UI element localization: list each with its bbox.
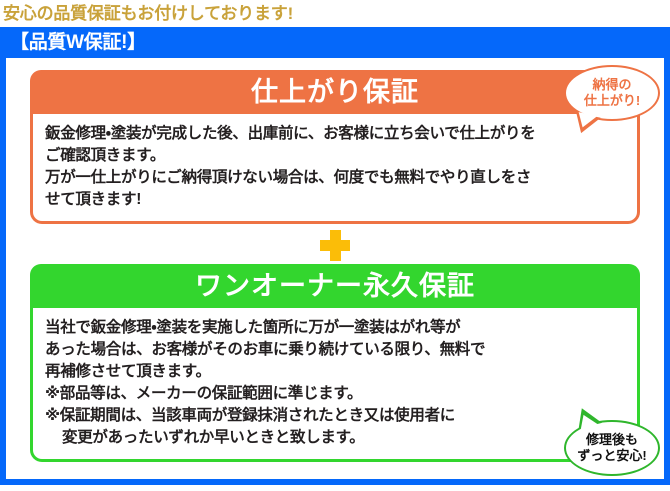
speech-bubble-finish-line-2: 仕上がり! — [584, 93, 640, 109]
guarantee-one-line-2: ご確認頂きます。 — [45, 145, 627, 167]
speech-bubble-lifetime-line-1: 修理後も — [586, 432, 638, 448]
guarantee-two-header: ワンオーナー永久保証 — [30, 264, 640, 308]
guarantee-two-note-1: ※部品等は、メーカーの保証範囲に準じます。 — [45, 383, 627, 405]
guarantee-two-line-2: あった場合は、お客様がそのお車に乗り続けている限り、無料で — [45, 339, 627, 361]
speech-bubble-finish: 納得の 仕上がり! — [564, 65, 660, 121]
speech-bubble-finish-line-1: 納得の — [592, 77, 631, 93]
guarantee-one-line-1: 鈑金修理・塗装が完成した後、出庫前に、お客様に立ち会いで仕上がりを — [45, 123, 627, 145]
guarantee-two-line-3: 再補修させて頂きます。 — [45, 361, 627, 383]
guarantee-two-body: 当社で鈑金修理・塗装を実施した箇所に万が一塗装はがれ等が あった場合は、お客様が… — [30, 308, 640, 462]
plus-divider — [16, 224, 654, 264]
guarantee-one-line-4: せて頂きます! — [45, 189, 627, 211]
guarantee-two-note-2: ※保証期間は、当該車両が登録抹消されたとき又は使用者に — [45, 405, 627, 427]
content-frame: 仕上がり保証 鈑金修理・塗装が完成した後、出庫前に、お客様に立ち会いで仕上がりを… — [0, 58, 670, 485]
content-inner: 仕上がり保証 鈑金修理・塗装が完成した後、出庫前に、お客様に立ち会いで仕上がりを… — [6, 58, 664, 479]
guarantee-card-lifetime: ワンオーナー永久保証 当社で鈑金修理・塗装を実施した箇所に万が一塗装はがれ等が … — [30, 264, 640, 462]
promo-banner: 安心の品質保証もお付けしております! 【品質W保証!】 仕上がり保証 鈑金修理・… — [0, 0, 670, 485]
title-bar: 【品質W保証!】 — [0, 27, 670, 58]
speech-bubble-lifetime: 修理後も ずっと安心! — [564, 420, 660, 476]
guarantee-one-line-3: 万が一仕上がりにご納得頂けない場合は、何度でも無料でやり直しをさ — [45, 167, 627, 189]
guarantee-two-note-2-cont: 変更があったいずれか早いときと致します。 — [45, 427, 627, 449]
page-headline: 安心の品質保証もお付けしております! — [0, 0, 670, 27]
guarantee-card-finish: 仕上がり保証 鈑金修理・塗装が完成した後、出庫前に、お客様に立ち会いで仕上がりを… — [30, 70, 640, 224]
plus-icon — [320, 230, 350, 260]
guarantee-one-body: 鈑金修理・塗装が完成した後、出庫前に、お客様に立ち会いで仕上がりを ご確認頂きま… — [30, 114, 640, 224]
guarantee-two-line-1: 当社で鈑金修理・塗装を実施した箇所に万が一塗装はがれ等が — [45, 317, 627, 339]
guarantee-one-header: 仕上がり保証 — [30, 70, 640, 114]
speech-bubble-lifetime-line-2: ずっと安心! — [577, 448, 646, 464]
